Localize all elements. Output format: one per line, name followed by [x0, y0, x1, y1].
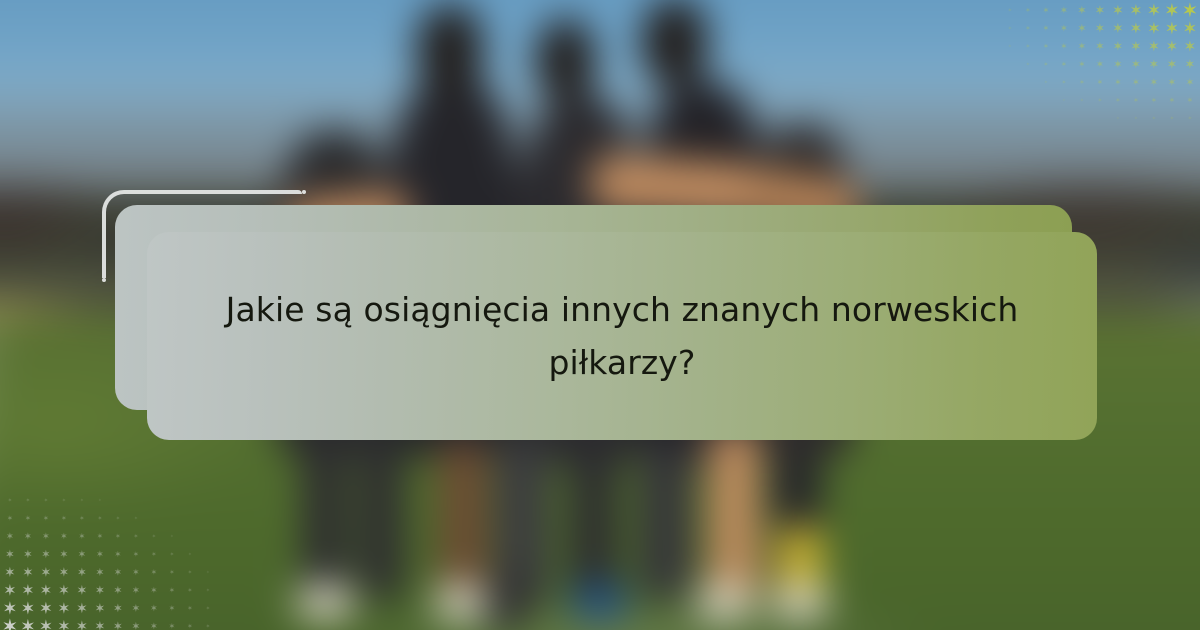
question-text: Jakie są osiągnięcia innych znanych norw… — [214, 283, 1031, 390]
share-card-canvas: Jakie są osiągnięcia innych znanych norw… — [0, 0, 1200, 630]
question-card: Jakie są osiągnięcia innych znanych norw… — [147, 232, 1097, 440]
